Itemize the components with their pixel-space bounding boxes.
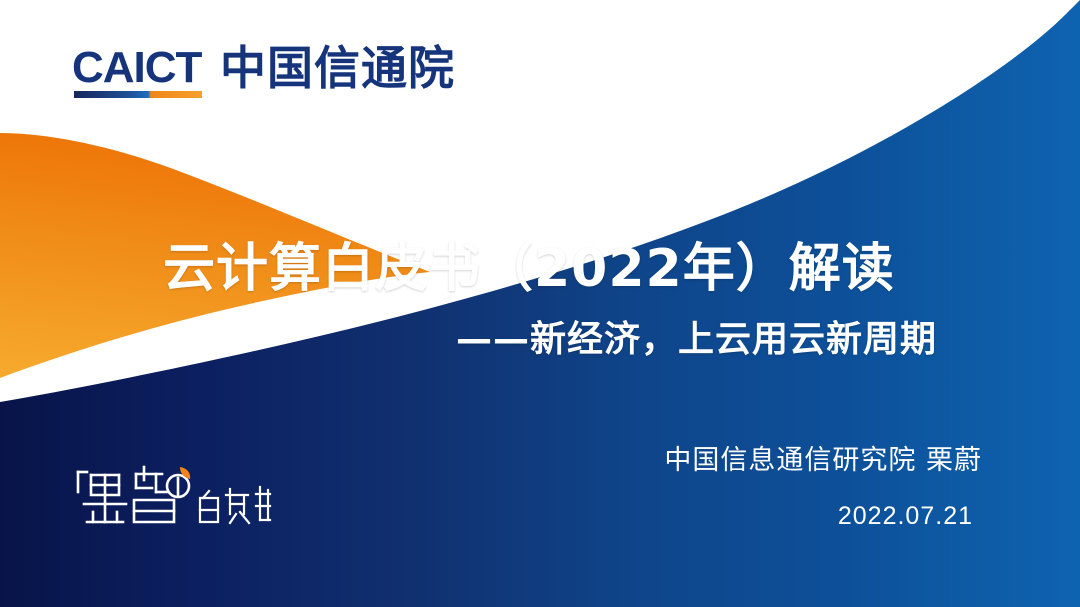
- title-slide: CAICT 中国信通院 云计算白皮书（2022年）解读 ——新经济，上云用云新周…: [0, 0, 1080, 607]
- caict-wordmark: CAICT: [72, 45, 201, 91]
- presenter-organization-and-name: 中国信息通信研究院 栗蔚: [664, 443, 982, 479]
- page-subtitle: ——新经济，上云用云新周期: [0, 306, 945, 364]
- caict-logo: CAICT 中国信通院: [72, 45, 442, 107]
- title-block: 云计算白皮书（2022年）解读 ——新经济，上云用云新周期: [0, 232, 945, 364]
- caict-chinese-name: 中国信通院: [220, 44, 455, 92]
- page-title: 云计算白皮书（2022年）解读: [0, 232, 945, 306]
- jizhi-whitepaper-logo: [72, 462, 272, 528]
- caict-logo-underline-bar: [74, 91, 202, 98]
- presenter-block: 中国信息通信研究院 栗蔚 2022.07.21: [664, 443, 982, 532]
- presentation-date: 2022.07.21: [664, 500, 973, 532]
